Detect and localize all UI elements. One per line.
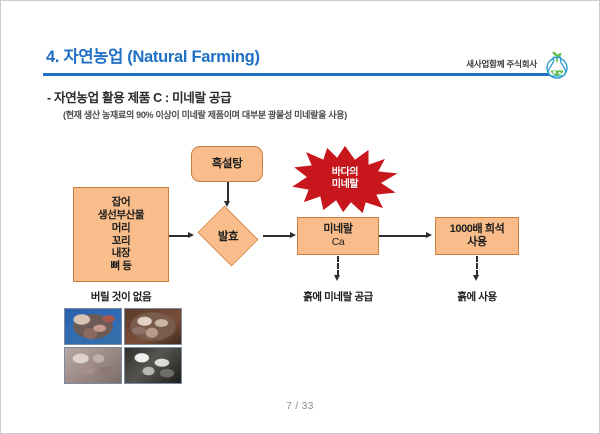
connector-mineral-to-soil [337, 256, 339, 276]
node-dilute-1000x-line-2: 사용 [467, 236, 486, 249]
node-fermentation-label: 발효 [194, 209, 262, 263]
node-fish-source-line-4: 꼬리 [112, 235, 131, 248]
node-dilute-1000x-line-1: 1000배 희석 [450, 223, 505, 236]
node-black-sugar[interactable]: 흑설탕 [191, 146, 263, 182]
fish-byproduct-photo-4 [124, 347, 182, 384]
arrowhead-mineral-to-dilute [426, 232, 432, 238]
page-title: 4. 자연농업 (Natural Farming) [46, 43, 260, 67]
node-fish-source-line-6: 뼈 등 [110, 260, 131, 273]
fish-byproduct-photo-3 [64, 347, 122, 384]
fish-byproduct-photo-1 [64, 308, 122, 345]
node-fish-source-line-2: 생선부산물 [98, 209, 144, 222]
node-fish-source-line-3: 머리 [112, 222, 131, 235]
section-subtitle-note: (현재 생산 농재료의 90% 이상이 미네랄 제품이며 대부분 광물성 미네랄… [63, 108, 347, 121]
starburst-icon [289, 143, 401, 215]
photo-grid [64, 308, 182, 384]
arrowhead-ferment-to-mineral [290, 232, 296, 238]
arrowhead-dilute-to-soil [473, 275, 479, 281]
page-number: 7 / 33 [1, 401, 599, 412]
slide-canvas: 4. 자연농업 (Natural Farming) 새사업함께 주식회사 - 자… [0, 0, 600, 434]
connector-dilute-to-soil [476, 256, 478, 276]
section-subtitle: - 자연농업 활용 제품 C : 미네랄 공급 [47, 87, 231, 106]
flask-sprout-icon [543, 49, 571, 79]
connector-sugar-to-ferment [227, 182, 229, 202]
node-fish-source[interactable]: 잡어 생선부산물 머리 꼬리 내장 뼈 등 [73, 187, 169, 282]
node-mineral-ca-line-2: Ca [332, 236, 345, 249]
node-fish-source-line-5: 내장 [112, 247, 131, 260]
node-black-sugar-label: 흑설탕 [212, 157, 243, 171]
node-dilute-1000x[interactable]: 1000배 희석 사용 [435, 217, 519, 255]
caption-soil-use: 흙에 사용 [435, 289, 519, 304]
node-fish-source-line-1: 잡어 [112, 196, 131, 209]
brand-name: 새사업함께 주식회사 [466, 58, 537, 70]
caption-soil-mineral-supply: 흙에 미네랄 공급 [273, 289, 403, 304]
caption-no-waste: 버릴 것이 없음 [73, 289, 169, 304]
node-mineral-ca-line-1: 미네랄 [323, 223, 352, 236]
node-mineral-ca[interactable]: 미네랄 Ca [297, 217, 379, 255]
connector-source-to-ferment [169, 235, 189, 237]
connector-mineral-to-dilute [379, 235, 427, 237]
arrowhead-mineral-to-soil [334, 275, 340, 281]
node-fermentation[interactable]: 발효 [194, 209, 262, 263]
connector-ferment-to-mineral [263, 235, 291, 237]
brand-lockup: 새사업함께 주식회사 [466, 49, 571, 79]
fish-byproduct-photo-2 [124, 308, 182, 345]
starburst-sea-mineral: 바다의 미네랄 [289, 143, 401, 215]
